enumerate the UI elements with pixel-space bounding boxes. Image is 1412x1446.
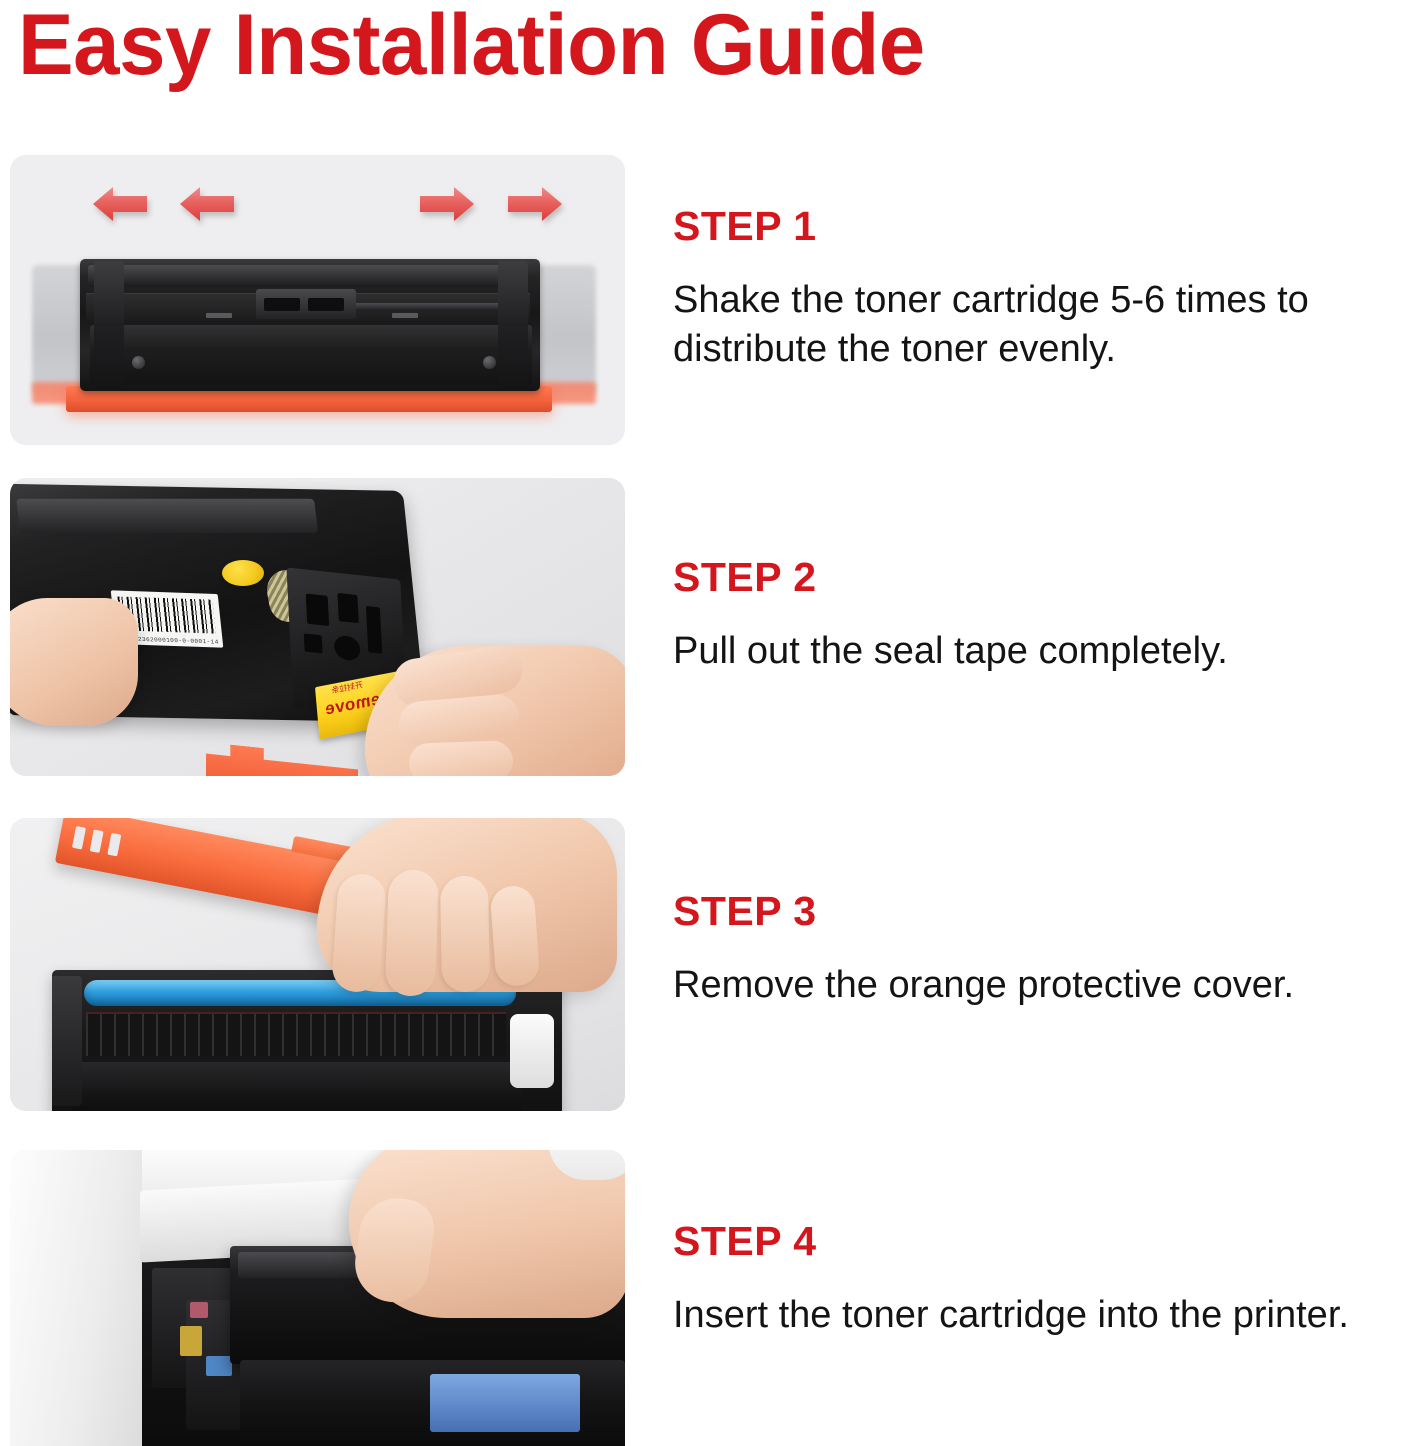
cartridge-body xyxy=(80,259,540,391)
hand-holding-cartridge xyxy=(10,598,138,726)
printer-left-door xyxy=(10,1150,142,1446)
toner-cartridge-illustration xyxy=(60,255,575,410)
ring-finger xyxy=(440,876,490,993)
hand-pulling-tape xyxy=(365,646,625,776)
cartridge-lower-face xyxy=(72,1062,522,1111)
step-row-2: 13012362000100-0-0001-14 开封拉条 Remove STE… xyxy=(0,478,1412,776)
cartridge-handle xyxy=(256,289,356,319)
hand-inserting-cartridge xyxy=(349,1150,625,1318)
step-1-text-block: STEP 1 Shake the toner cartridge 5-6 tim… xyxy=(625,155,1412,445)
cartridge-top-slot xyxy=(16,499,318,533)
cartridge-yellow-cap xyxy=(222,560,264,586)
step-4-heading: STEP 4 xyxy=(673,1220,1408,1263)
step-2-body: Pull out the seal tape completely. xyxy=(673,627,1383,676)
step-row-3: STEP 3 Remove the orange protective cove… xyxy=(0,818,1412,1111)
step-row-1: STEP 1 Shake the toner cartridge 5-6 tim… xyxy=(0,155,1412,445)
step-2-text-block: STEP 2 Pull out the seal tape completely… xyxy=(625,478,1412,776)
cartridge-lower-face xyxy=(90,325,532,385)
step-1-body: Shake the toner cartridge 5-6 times to d… xyxy=(673,276,1383,373)
magenta-cartridge-chip xyxy=(190,1302,208,1318)
step-4-text-block: STEP 4 Insert the toner cartridge into t… xyxy=(625,1150,1412,1446)
shake-arrow-right-2-icon xyxy=(508,185,562,223)
cartridge-fins xyxy=(86,1012,506,1056)
blue-guide-strip xyxy=(430,1374,580,1432)
cover-notch-3 xyxy=(107,833,121,857)
cartridge-top-lip xyxy=(88,265,514,287)
middle-finger xyxy=(397,693,520,747)
sleeve-cuff xyxy=(549,1150,625,1180)
index-finger xyxy=(331,872,387,993)
step-1-heading: STEP 1 xyxy=(673,205,1408,248)
shake-arrow-left-2-icon xyxy=(180,185,234,223)
step-4-body: Insert the toner cartridge into the prin… xyxy=(673,1291,1383,1340)
cartridge-vent-hole-5 xyxy=(366,606,382,654)
middle-finger xyxy=(385,869,439,997)
cartridge-left-end-cap xyxy=(52,976,82,1106)
shake-arrow-left-1-icon xyxy=(93,185,147,223)
cover-notch-2 xyxy=(90,829,104,853)
cartridge-knob-right xyxy=(483,356,496,369)
step-row-4: STEP 4 Insert the toner cartridge into t… xyxy=(0,1150,1412,1446)
cyan-cartridge-chip xyxy=(206,1356,232,1376)
cartridge-end-cap-left xyxy=(94,261,124,389)
shake-arrow-right-1-icon xyxy=(420,185,474,223)
step-3-image-panel xyxy=(10,818,625,1111)
cartridge-vent-hole-4 xyxy=(334,635,361,662)
step-2-heading: STEP 2 xyxy=(673,556,1408,599)
cover-notch-1 xyxy=(72,826,86,850)
little-finger xyxy=(490,885,541,988)
cartridge-vent-hole-2 xyxy=(337,593,358,623)
cartridge-vent-hole-3 xyxy=(304,633,323,653)
step-1-image-panel xyxy=(10,155,625,445)
cartridge-tick-right xyxy=(392,313,418,318)
step-3-heading: STEP 3 xyxy=(673,890,1408,933)
cartridge-vent-hole-1 xyxy=(306,594,330,627)
page-title: Easy Installation Guide xyxy=(18,0,925,95)
cartridge-right-gear-cap xyxy=(510,1014,554,1088)
step-4-image-panel xyxy=(10,1150,625,1446)
cartridge-end-cap-right xyxy=(498,261,528,389)
yellow-cartridge-chip xyxy=(180,1326,202,1356)
step-2-image-panel: 13012362000100-0-0001-14 开封拉条 Remove xyxy=(10,478,625,776)
step-3-body: Remove the orange protective cover. xyxy=(673,961,1383,1010)
cartridge-tick-left xyxy=(206,313,232,318)
ring-finger xyxy=(408,740,513,776)
shake-arrow-group xyxy=(10,177,625,233)
hand-lifting-cover xyxy=(317,818,617,992)
step-3-text-block: STEP 3 Remove the orange protective cove… xyxy=(625,818,1412,1111)
cartridge-knob-left xyxy=(132,356,145,369)
